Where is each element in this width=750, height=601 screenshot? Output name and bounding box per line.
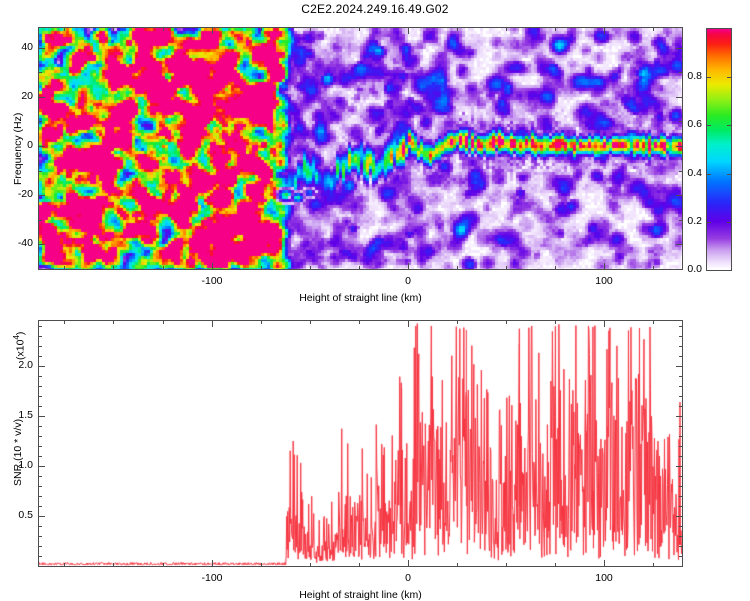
axis-tick	[679, 436, 683, 437]
axis-tick	[555, 27, 556, 31]
axis-tick	[38, 97, 45, 98]
axis-tick-label: 40	[21, 41, 33, 53]
axis-tick	[679, 506, 683, 507]
axis-tick	[408, 320, 409, 327]
axis-tick	[38, 496, 42, 497]
colorbar-tick-label: 0.6	[687, 118, 702, 130]
axis-tick	[212, 560, 213, 567]
axis-tick	[38, 346, 42, 347]
axis-tick	[679, 356, 683, 357]
axis-tick	[38, 516, 45, 517]
axis-tick	[38, 121, 42, 122]
axis-tick	[64, 266, 65, 270]
axis-tick	[163, 320, 164, 324]
axis-tick	[408, 27, 409, 34]
spectrogram-y-axis-label: Frequency (Hz)	[12, 112, 24, 184]
axis-tick	[706, 174, 711, 175]
axis-tick	[38, 406, 42, 407]
axis-tick	[679, 220, 683, 221]
axis-tick	[38, 269, 42, 270]
colorbar-tick-label: 0.4	[687, 167, 702, 179]
axis-tick	[679, 556, 683, 557]
axis-tick-label: 20	[21, 90, 33, 102]
axis-tick	[679, 336, 683, 337]
axis-tick	[457, 563, 458, 567]
axis-tick	[676, 416, 683, 417]
axis-tick	[38, 396, 42, 397]
axis-tick	[38, 556, 42, 557]
axis-tick	[727, 222, 732, 223]
axis-tick	[212, 263, 213, 270]
axis-tick	[706, 270, 711, 271]
axis-tick	[653, 266, 654, 270]
axis-tick	[506, 266, 507, 270]
axis-tick	[679, 346, 683, 347]
axis-tick	[261, 563, 262, 567]
axis-tick	[555, 563, 556, 567]
axis-tick-label: 100	[595, 275, 613, 287]
axis-tick	[408, 560, 409, 567]
colorbar-gradient	[707, 29, 731, 270]
axis-tick	[679, 496, 683, 497]
spectrogram-plot-area[interactable]	[38, 27, 683, 270]
axis-tick	[679, 269, 683, 270]
axis-tick	[38, 466, 45, 467]
axis-tick	[64, 27, 65, 31]
axis-tick	[679, 426, 683, 427]
axis-tick	[679, 536, 683, 537]
axis-tick	[604, 263, 605, 270]
axis-tick	[457, 27, 458, 31]
snr-plot-area[interactable]	[38, 320, 683, 567]
axis-tick	[359, 27, 360, 31]
axis-tick	[38, 171, 42, 172]
axis-tick	[679, 486, 683, 487]
axis-tick	[679, 546, 683, 547]
axis-tick	[653, 27, 654, 31]
snr-multiplier-exponent: 4	[12, 335, 21, 339]
axis-tick	[676, 97, 683, 98]
axis-tick	[163, 563, 164, 567]
axis-tick	[64, 320, 65, 324]
figure-title: C2E2.2024.249.16.49.G02	[0, 2, 750, 16]
axis-tick	[113, 563, 114, 567]
axis-tick	[679, 446, 683, 447]
axis-tick-label: 0	[405, 572, 411, 584]
axis-tick	[679, 376, 683, 377]
axis-tick-label: 100	[595, 572, 613, 584]
axis-tick	[727, 125, 732, 126]
axis-tick	[163, 266, 164, 270]
axis-tick	[676, 366, 683, 367]
axis-tick	[679, 171, 683, 172]
axis-tick	[676, 48, 683, 49]
axis-tick	[64, 563, 65, 567]
axis-tick	[38, 526, 42, 527]
axis-tick	[38, 536, 42, 537]
axis-tick	[679, 386, 683, 387]
axis-tick	[727, 174, 732, 175]
axis-tick	[38, 146, 45, 147]
axis-tick	[113, 27, 114, 31]
axis-tick	[359, 266, 360, 270]
axis-tick	[555, 266, 556, 270]
axis-tick	[38, 220, 42, 221]
axis-tick	[38, 476, 42, 477]
snr-multiplier-base: (x10	[15, 340, 27, 360]
axis-tick	[38, 456, 42, 457]
axis-tick	[727, 77, 732, 78]
axis-tick	[506, 27, 507, 31]
axis-tick	[679, 326, 683, 327]
axis-tick	[212, 320, 213, 327]
axis-tick	[38, 416, 45, 417]
axis-tick	[676, 466, 683, 467]
axis-tick	[38, 72, 42, 73]
spectrogram-image	[39, 28, 682, 269]
axis-tick	[38, 386, 42, 387]
spectrogram-x-axis-label: Height of straight line (km)	[299, 292, 422, 304]
axis-tick	[506, 320, 507, 324]
axis-tick	[457, 266, 458, 270]
axis-tick-label: -40	[18, 237, 33, 249]
axis-tick	[679, 476, 683, 477]
axis-tick	[212, 27, 213, 34]
axis-tick	[38, 244, 45, 245]
colorbar-tick-label: 0.8	[687, 70, 702, 82]
axis-tick	[555, 320, 556, 324]
axis-tick	[604, 320, 605, 327]
axis-tick	[113, 320, 114, 324]
axis-tick	[676, 244, 683, 245]
axis-tick	[679, 566, 683, 567]
axis-tick	[38, 546, 42, 547]
axis-tick	[113, 266, 114, 270]
axis-tick	[38, 426, 42, 427]
axis-tick	[408, 263, 409, 270]
axis-tick	[457, 320, 458, 324]
axis-tick	[38, 356, 42, 357]
snr-x-axis-label: Height of straight line (km)	[299, 589, 422, 601]
axis-tick-label: -20	[18, 188, 33, 200]
axis-tick	[679, 121, 683, 122]
axis-tick-label: 0	[27, 139, 33, 151]
axis-tick	[679, 72, 683, 73]
axis-tick	[38, 336, 42, 337]
axis-tick	[38, 446, 42, 447]
snr-y-axis-label: SNR (10 * v/v)	[12, 418, 24, 485]
axis-tick	[310, 266, 311, 270]
snr-y-axis-multiplier: (x104)	[12, 332, 27, 360]
colorbar-tick-label: 0.2	[687, 215, 702, 227]
axis-tick	[38, 326, 42, 327]
axis-tick	[38, 48, 45, 49]
axis-tick	[604, 27, 605, 34]
axis-tick	[727, 270, 732, 271]
axis-tick	[359, 563, 360, 567]
axis-tick	[676, 195, 683, 196]
axis-tick	[679, 396, 683, 397]
axis-tick-label: 2.0	[18, 359, 33, 371]
axis-tick	[310, 563, 311, 567]
axis-tick	[163, 27, 164, 31]
colorbar-scale[interactable]	[706, 28, 732, 271]
axis-tick	[38, 566, 42, 567]
axis-tick	[679, 406, 683, 407]
axis-tick	[38, 506, 42, 507]
axis-tick	[706, 77, 711, 78]
snr-line-series	[39, 321, 682, 566]
axis-tick-label: -100	[201, 572, 222, 584]
axis-tick	[604, 560, 605, 567]
axis-tick	[359, 320, 360, 324]
axis-tick	[706, 222, 711, 223]
axis-tick	[38, 436, 42, 437]
axis-tick	[679, 526, 683, 527]
axis-tick	[310, 27, 311, 31]
axis-tick	[38, 195, 45, 196]
axis-tick	[653, 320, 654, 324]
axis-tick	[310, 320, 311, 324]
axis-tick	[261, 266, 262, 270]
axis-tick-label: 0.5	[18, 509, 33, 521]
colorbar-tick-label: 0.0	[687, 263, 702, 275]
axis-tick	[506, 563, 507, 567]
axis-tick-label: -100	[201, 275, 222, 287]
axis-tick	[38, 376, 42, 377]
snr-multiplier-close: )	[15, 332, 27, 336]
axis-tick	[676, 516, 683, 517]
axis-tick	[676, 146, 683, 147]
axis-tick	[38, 486, 42, 487]
axis-tick	[653, 563, 654, 567]
axis-tick	[679, 456, 683, 457]
axis-tick	[706, 125, 711, 126]
axis-tick-label: 0	[405, 275, 411, 287]
axis-tick	[261, 320, 262, 324]
axis-tick	[261, 27, 262, 31]
axis-tick	[38, 366, 45, 367]
